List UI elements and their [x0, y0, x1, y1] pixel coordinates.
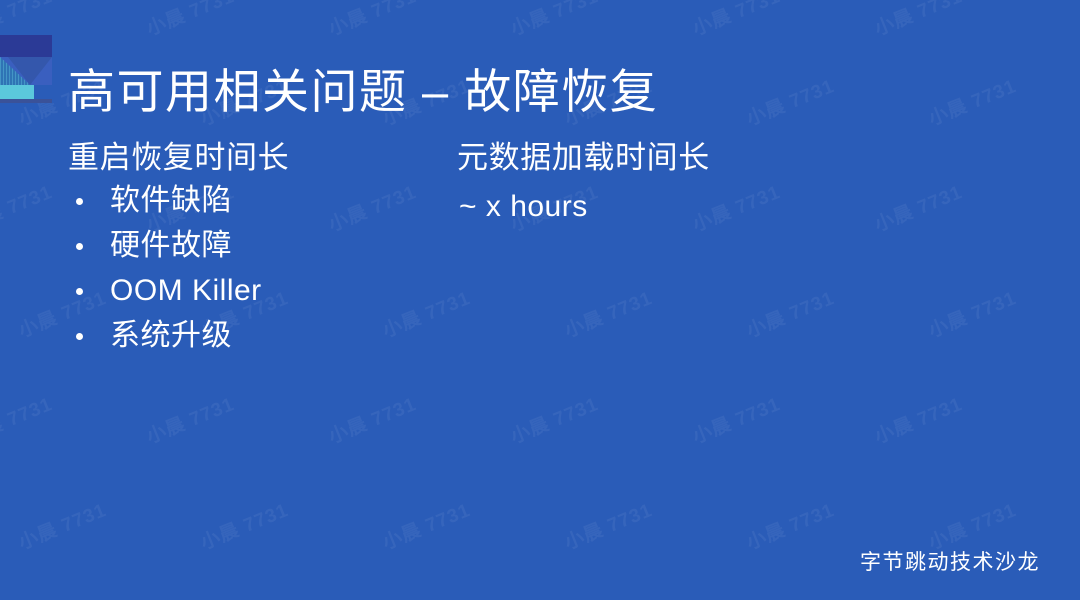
list-item-label: OOM Killer [110, 274, 262, 307]
watermark-text: 小晨 7731 [0, 389, 56, 449]
watermark-text: 小晨 7731 [14, 495, 110, 555]
watermark-text: 小晨 7731 [688, 389, 784, 449]
watermark-text: 小晨 7731 [142, 389, 238, 449]
watermark-text: 小晨 7731 [742, 283, 838, 343]
list-item-label: 系统升级 [110, 319, 232, 352]
watermark-text: 小晨 7731 [378, 495, 474, 555]
bullet-dot-icon [76, 198, 83, 205]
slide-logo-icon [0, 31, 52, 103]
right-column-detail: ~ x hours [459, 187, 875, 226]
list-item: 硬件故障 [68, 231, 428, 261]
watermark-text: 小晨 7731 [324, 389, 420, 449]
watermark-text: 小晨 7731 [870, 177, 966, 237]
presentation-slide: 小晨 7731小晨 7731小晨 7731小晨 7731小晨 7731小晨 77… [0, 0, 1080, 600]
list-item: 系统升级 [68, 321, 428, 351]
watermark-text: 小晨 7731 [870, 389, 966, 449]
list-item: 软件缺陷 [68, 186, 428, 216]
left-column-heading: 重启恢复时间长 [68, 138, 428, 178]
bullet-dot-icon [76, 288, 83, 295]
watermark-text: 小晨 7731 [142, 0, 238, 41]
watermark-text: 小晨 7731 [688, 0, 784, 41]
watermark-text: 小晨 7731 [506, 389, 602, 449]
watermark-text: 小晨 7731 [924, 283, 1020, 343]
watermark-text: 小晨 7731 [324, 0, 420, 41]
page-title: 高可用相关问题 – 故障恢复 [68, 64, 658, 119]
list-item: OOM Killer [68, 276, 428, 306]
bullet-dot-icon [76, 243, 83, 250]
watermark-text: 小晨 7731 [506, 0, 602, 41]
watermark-text: 小晨 7731 [0, 177, 56, 237]
watermark-text: 小晨 7731 [196, 495, 292, 555]
right-column-heading: 元数据加载时间长 [455, 138, 875, 178]
bullet-dot-icon [76, 333, 83, 340]
list-item-label: 硬件故障 [110, 229, 232, 262]
slide-logo [0, 31, 52, 103]
list-item-label: 软件缺陷 [110, 184, 232, 217]
watermark-text: 小晨 7731 [560, 495, 656, 555]
left-column-bullet-list: 软件缺陷 硬件故障 OOM Killer 系统升级 [68, 186, 428, 351]
watermark-text: 小晨 7731 [924, 71, 1020, 131]
footer-brand: 字节跳动技术沙龙 [860, 546, 1040, 576]
watermark-text: 小晨 7731 [560, 283, 656, 343]
left-column: 重启恢复时间长 软件缺陷 硬件故障 OOM Killer 系统升级 [68, 138, 428, 351]
watermark-text: 小晨 7731 [742, 71, 838, 131]
watermark-text: 小晨 7731 [870, 0, 966, 41]
watermark-text: 小晨 7731 [742, 495, 838, 555]
right-column: 元数据加载时间长 ~ x hours [455, 138, 875, 226]
